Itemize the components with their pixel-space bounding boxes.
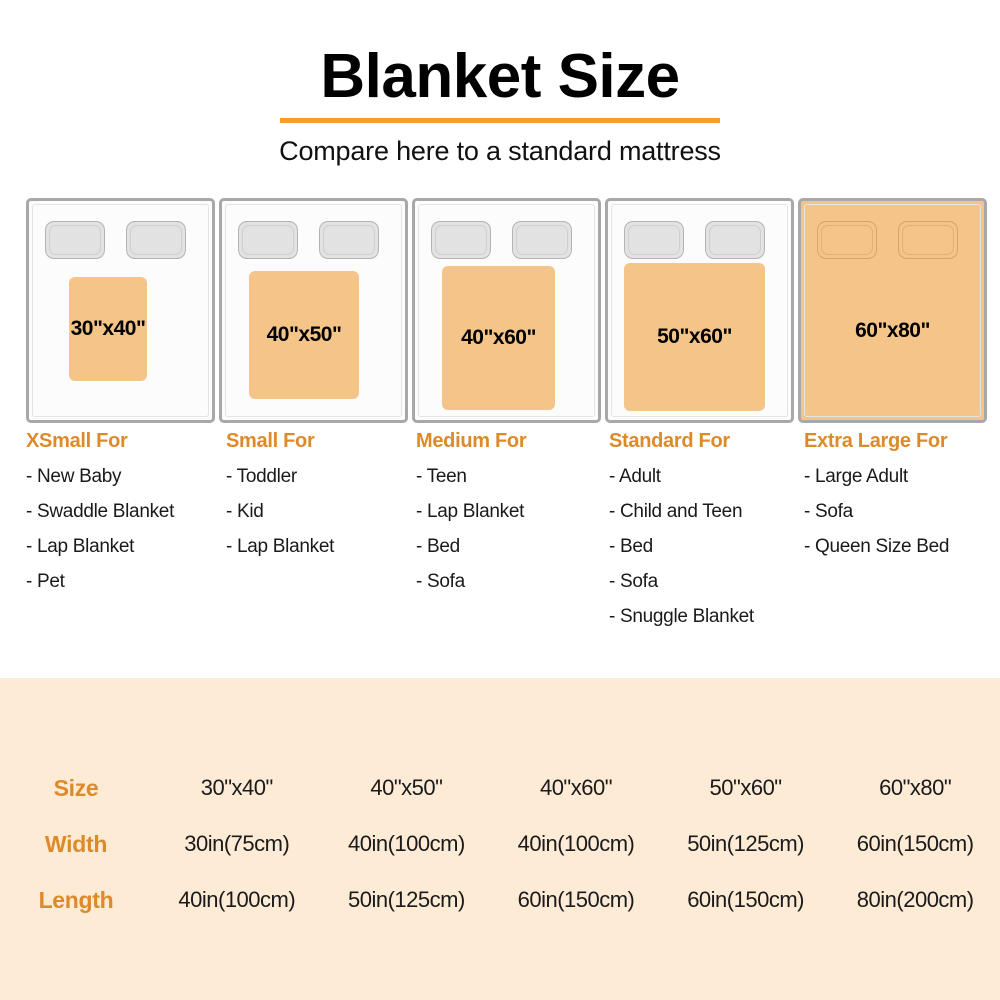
blanket-swatch: 50"x60" [624, 263, 765, 411]
table-cell: 30in(75cm) [152, 816, 322, 872]
specs-panel: Size 30"x40" 40"x50" 40"x60" 50"x60" 60"… [0, 678, 1000, 1000]
pillow-icon [238, 221, 298, 259]
list-item: - Lap Blanket [416, 502, 609, 521]
table-cell: 40"x60" [491, 760, 661, 816]
list-item: - Adult [609, 467, 804, 486]
list-item: - Lap Blanket [26, 537, 226, 556]
pillow-icon [898, 221, 958, 259]
blanket-size-label: 50"x60" [657, 325, 732, 349]
blanket-size-label: 30"x40" [71, 317, 146, 341]
row-header-length: Length [0, 872, 152, 928]
pillow-icon [512, 221, 572, 259]
pillow-icon [817, 221, 877, 259]
specs-table: Size 30"x40" 40"x50" 40"x60" 50"x60" 60"… [0, 760, 1000, 928]
page-subtitle: Compare here to a standard mattress [0, 136, 1000, 167]
pillow-icon [319, 221, 379, 259]
table-row: Length 40in(100cm) 50in(125cm) 60in(150c… [0, 872, 1000, 928]
mattress-outline: 40"x50" [219, 198, 408, 423]
usage-column-small: Small For - Toddler - Kid - Lap Blanket [226, 430, 416, 642]
table-cell: 30"x40" [152, 760, 322, 816]
blanket-swatch: 30"x40" [69, 277, 147, 381]
pillow-icon [431, 221, 491, 259]
bed-diagram-extra-large: 60"x80" [798, 198, 987, 423]
pillow-icon [126, 221, 186, 259]
table-cell: 50"x60" [661, 760, 831, 816]
table-row: Size 30"x40" 40"x50" 40"x60" 50"x60" 60"… [0, 760, 1000, 816]
usage-lists-row: XSmall For - New Baby - Swaddle Blanket … [0, 430, 1000, 642]
list-item: - Bed [416, 537, 609, 556]
list-item: - Swaddle Blanket [26, 502, 226, 521]
table-cell: 40in(100cm) [491, 816, 661, 872]
table-cell: 60in(150cm) [491, 872, 661, 928]
bed-diagram-small: 40"x50" [219, 198, 408, 423]
mattress-outline: 30"x40" [26, 198, 215, 423]
usage-column-standard: Standard For - Adult - Child and Teen - … [609, 430, 804, 642]
list-item: - Teen [416, 467, 609, 486]
pillow-icon [45, 221, 105, 259]
blanket-size-label: 40"x60" [461, 326, 536, 350]
blanket-swatch: 40"x60" [442, 266, 555, 410]
mattress-outline: 50"x60" [605, 198, 794, 423]
usage-column-medium: Medium For - Teen - Lap Blanket - Bed - … [416, 430, 609, 642]
table-cell: 40in(100cm) [322, 816, 492, 872]
pillow-icon [624, 221, 684, 259]
bed-diagram-medium: 40"x60" [412, 198, 601, 423]
blanket-size-label: 40"x50" [267, 323, 342, 347]
usage-column-title: Medium For [416, 430, 609, 453]
table-cell: 40"x50" [322, 760, 492, 816]
table-cell: 60"x80" [830, 760, 1000, 816]
list-item: - Child and Teen [609, 502, 804, 521]
page-title: Blanket Size [320, 46, 679, 108]
usage-column-xsmall: XSmall For - New Baby - Swaddle Blanket … [26, 430, 226, 642]
list-item: - Snuggle Blanket [609, 607, 804, 626]
list-item: - Sofa [609, 572, 804, 591]
list-item: - New Baby [26, 467, 226, 486]
list-item: - Kid [226, 502, 416, 521]
table-cell: 40in(100cm) [152, 872, 322, 928]
table-cell: 60in(150cm) [661, 872, 831, 928]
list-item: - Pet [26, 572, 226, 591]
mattress-outline: 60"x80" [798, 198, 987, 423]
bed-diagrams-row: 30"x40" 40"x50" 40"x60" [0, 198, 1000, 423]
usage-column-title: XSmall For [26, 430, 226, 453]
list-item: - Sofa [804, 502, 994, 521]
list-item: - Toddler [226, 467, 416, 486]
title-underline-rule [280, 118, 720, 123]
list-item: - Queen Size Bed [804, 537, 994, 556]
header: Blanket Size Compare here to a standard … [0, 0, 1000, 167]
table-cell: 80in(200cm) [830, 872, 1000, 928]
row-header-size: Size [0, 760, 152, 816]
table-cell: 50in(125cm) [322, 872, 492, 928]
table-row: Width 30in(75cm) 40in(100cm) 40in(100cm)… [0, 816, 1000, 872]
bed-diagram-standard: 50"x60" [605, 198, 794, 423]
list-item: - Sofa [416, 572, 609, 591]
list-item: - Bed [609, 537, 804, 556]
table-cell: 50in(125cm) [661, 816, 831, 872]
table-cell: 60in(150cm) [830, 816, 1000, 872]
blanket-size-label: 60"x80" [801, 319, 984, 343]
usage-column-title: Extra Large For [804, 430, 994, 453]
bed-diagram-xsmall: 30"x40" [26, 198, 215, 423]
usage-column-title: Standard For [609, 430, 804, 453]
usage-column-title: Small For [226, 430, 416, 453]
mattress-outline: 40"x60" [412, 198, 601, 423]
list-item: - Large Adult [804, 467, 994, 486]
blanket-swatch: 40"x50" [249, 271, 359, 399]
list-item: - Lap Blanket [226, 537, 416, 556]
usage-column-extra-large: Extra Large For - Large Adult - Sofa - Q… [804, 430, 994, 642]
row-header-width: Width [0, 816, 152, 872]
pillow-icon [705, 221, 765, 259]
